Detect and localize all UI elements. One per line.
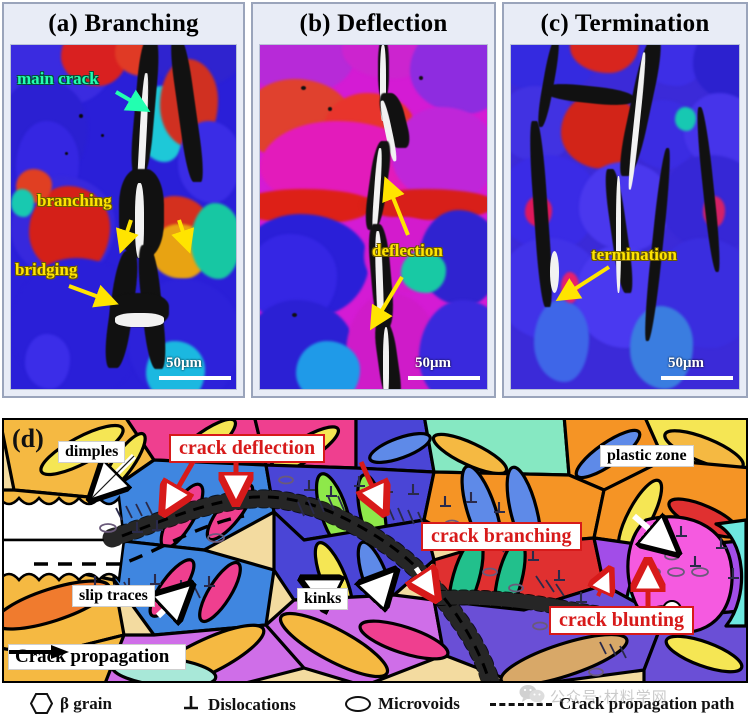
panel-a-title-text: Branching	[84, 10, 198, 37]
wechat-icon	[519, 684, 545, 709]
legend-label-microvoids: Microvoids	[378, 694, 460, 714]
panel-b-title-text: Deflection	[337, 10, 447, 37]
label-crack-blunting: crack blunting	[549, 606, 694, 635]
panel-b-scale-bar	[408, 376, 480, 380]
annotation-termination: termination	[591, 245, 677, 265]
figure-root: (a) Branching	[0, 0, 750, 723]
annotation-branching: branching	[37, 191, 112, 211]
panel-c-scale-bar	[661, 376, 733, 380]
ellipse-icon	[345, 696, 371, 712]
annotation-deflection: deflection	[372, 241, 443, 261]
panel-c-title: (c) Termination	[504, 6, 746, 42]
legend-item-beta-grain: β grain	[30, 693, 112, 714]
panel-a-title: (a) Branching	[4, 6, 243, 42]
legend-label-dislocations: Dislocations	[208, 695, 296, 715]
panel-c: (c) Termination	[502, 2, 748, 398]
panel-b-tag: (b)	[300, 10, 331, 37]
panel-c-tag: (c)	[541, 10, 569, 37]
watermark: 公众号·材料学网	[519, 684, 747, 708]
panel-a-scale-bar	[159, 376, 231, 380]
panel-c-arrows	[511, 45, 740, 390]
panel-b: (b) Deflection	[251, 2, 496, 398]
label-crack-deflection: crack deflection	[169, 434, 325, 463]
panel-d-schematic: (d) dimples crack deflection plastic zon…	[2, 418, 748, 683]
panel-b-ebsd-image: deflection 50μm	[259, 44, 488, 390]
panel-a: (a) Branching	[2, 2, 245, 398]
panel-b-title: (b) Deflection	[253, 6, 494, 42]
label-crack-branching: crack branching	[421, 522, 582, 551]
panel-c-scale-text: 50μm	[668, 355, 704, 372]
label-plastic-zone: plastic zone	[600, 445, 694, 467]
panel-a-ebsd-image: main crack branching bridging 50μm	[10, 44, 237, 390]
panel-a-scale-text: 50μm	[166, 355, 202, 372]
panel-a-tag: (a)	[48, 10, 78, 37]
label-crack-propagation: Crack propagation	[8, 644, 186, 670]
legend-item-dislocations: Dislocations	[181, 693, 296, 717]
legend-label-beta-grain: β grain	[60, 694, 112, 714]
label-slip-traces: slip traces	[72, 585, 155, 607]
annotation-bridging: bridging	[15, 260, 77, 280]
label-kinks: kinks	[297, 588, 348, 610]
panel-a-arrows	[11, 45, 237, 390]
panel-d-tag: (d)	[12, 424, 44, 454]
panel-b-arrows	[260, 45, 488, 390]
hexagon-icon	[30, 693, 53, 714]
label-dimples: dimples	[58, 441, 125, 463]
panel-c-title-text: Termination	[575, 10, 710, 37]
panel-b-scale-text: 50μm	[415, 355, 451, 372]
panel-c-ebsd-image: termination 50μm	[510, 44, 740, 390]
legend-item-microvoids: Microvoids	[345, 694, 460, 714]
dislocation-icon	[181, 693, 201, 717]
watermark-text: 公众号·材料学网	[550, 686, 668, 707]
